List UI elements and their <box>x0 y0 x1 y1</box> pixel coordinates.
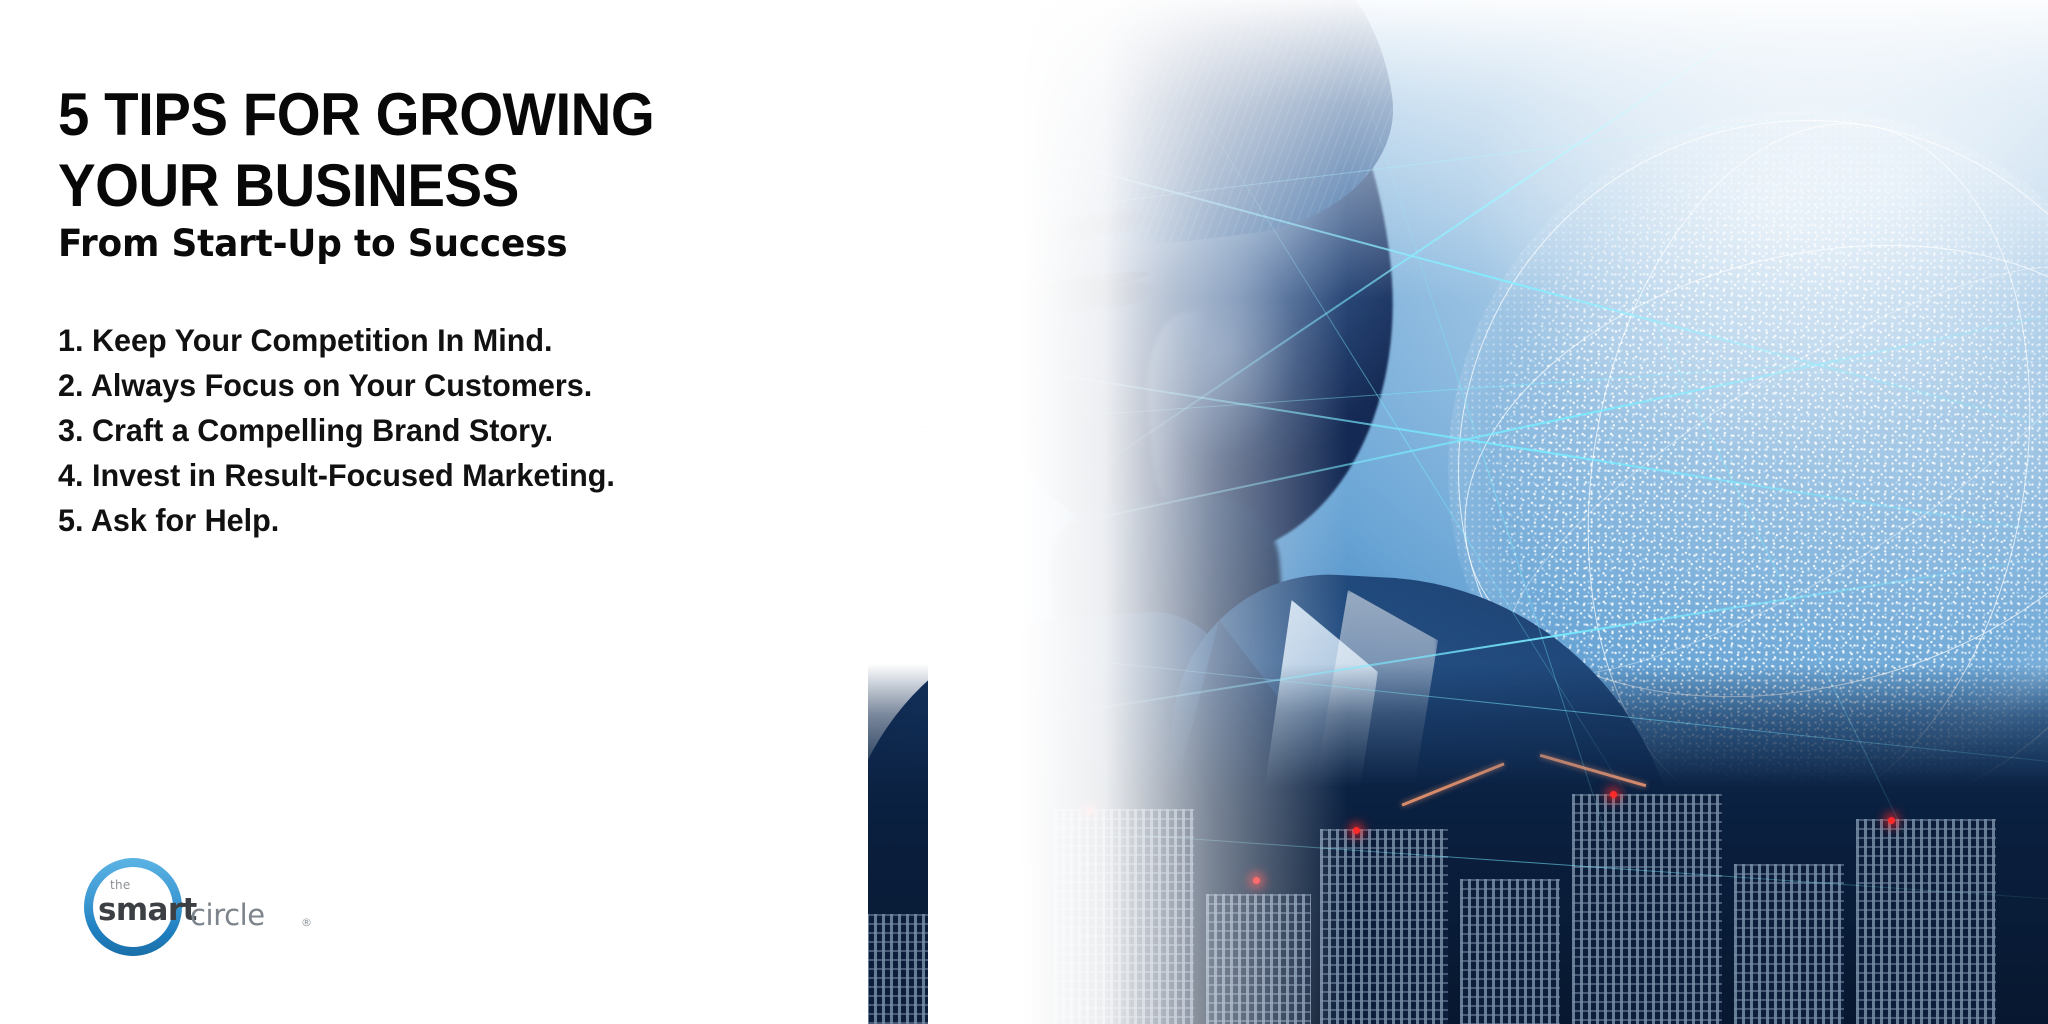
list-item: 1. Keep Your Competition In Mind. <box>58 318 853 363</box>
tips-list: 1. Keep Your Competition In Mind. 2. Alw… <box>58 318 853 543</box>
headline-line-1: 5 TIPS FOR GROWING <box>58 80 810 151</box>
text-content-area: 5 TIPS FOR GROWING YOUR BUSINESS From St… <box>0 0 900 1024</box>
list-item: 5. Ask for Help. <box>58 498 853 543</box>
list-item: 4. Invest in Result-Focused Marketing. <box>58 453 853 498</box>
headline-line-2: YOUR BUSINESS <box>58 151 810 222</box>
logo-text-the: the <box>110 878 131 892</box>
artwork-left-fade <box>928 0 1348 1024</box>
logo-text-circle: circle <box>190 898 265 932</box>
list-item: 2. Always Focus on Your Customers. <box>58 363 853 408</box>
banner-canvas: 5 TIPS FOR GROWING YOUR BUSINESS From St… <box>0 0 2048 1024</box>
composite-artwork <box>868 0 2048 1024</box>
list-item: 3. Craft a Compelling Brand Story. <box>58 408 853 453</box>
logo-text-smart: smart <box>98 892 197 928</box>
logo-registered-mark: ® <box>301 916 312 929</box>
smart-circle-logo[interactable]: the smart circle ® <box>84 858 344 978</box>
subtitle: From Start-Up to Success <box>58 222 567 265</box>
page-title: 5 TIPS FOR GROWING YOUR BUSINESS <box>58 80 810 222</box>
